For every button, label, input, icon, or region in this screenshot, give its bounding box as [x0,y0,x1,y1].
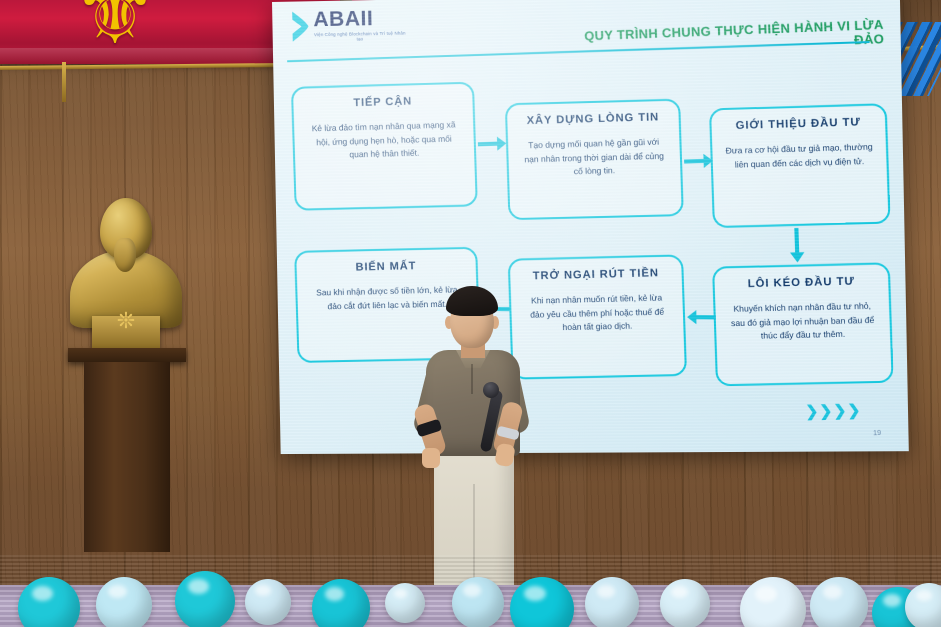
abaii-logo: ABAII Viện Công nghệ Blockchain và Trí t… [290,7,406,43]
flow-step-title: TIẾP CẬN [305,94,460,110]
balloon [740,577,806,627]
flow-step-text: Tạo dựng mối quan hệ gần gũi với nạn nhâ… [520,135,668,180]
abaii-logo-text: ABAII Viện Công nghệ Blockchain và Trí t… [313,7,406,43]
arrow-left-icon [687,310,716,324]
balloon [96,577,152,627]
pedestal-top [68,348,186,362]
balloon [510,577,574,627]
balloon [585,577,639,627]
chevron-right-icon: ❯ [847,403,861,419]
arrow-down-icon [789,228,805,263]
balloon [18,577,80,627]
chevron-right-icon: ❯ [819,404,833,420]
gold-trim-post [62,62,66,102]
flow-step-title: BIẾN MẤT [308,259,463,275]
hammer-and-sickle-icon: ⚜ [55,0,175,54]
flow-step-box-4[interactable]: LÔI KÉO ĐẦU TƯ Khuyến khích nạn nhân đầu… [712,262,894,386]
presenter-shirt-placket [471,364,473,394]
room-background: ⚜ ★ ❊ ABAII Viện Công nghệ Block [0,0,941,627]
balloon [452,577,504,627]
chevron-right-icon: ❯ [805,404,819,420]
bust-emblem-icon: ❊ [112,310,140,332]
slide-title: QUY TRÌNH CHUNG THỰC HIỆN HÀNH VI LỪA ĐẢ… [575,18,885,58]
balloon [810,577,868,627]
arrow-right-icon [684,154,713,169]
balloon-row [0,577,941,627]
flow-step-title: LÔI KÉO ĐẦU TƯ [727,275,876,291]
flow-step-text: Đưa ra cơ hội đầu tư giả mạo, thường liê… [725,140,875,172]
balloon [660,579,710,627]
flow-step-box-1[interactable]: TIẾP CẬN Kẻ lừa đảo tìm nạn nhân qua mạn… [291,82,478,211]
presenter-hair [446,286,498,316]
balloon [175,571,235,627]
pedestal-column [84,362,170,552]
balloon [312,579,370,627]
bust-beard [114,238,136,272]
balloon [385,583,425,623]
projection-screen[interactable]: ABAII Viện Công nghệ Blockchain và Trí t… [272,0,909,454]
ho-chi-minh-bust: ❊ [56,198,196,378]
flow-step-title: XÂY DỰNG LÒNG TIN [519,111,666,127]
flow-step-box-2[interactable]: XÂY DỰNG LÒNG TIN Tạo dựng mối quan hệ g… [505,98,684,220]
balloon [245,579,291,625]
screen-glare-overlay [272,0,909,454]
arrow-right-icon [478,136,507,151]
abaii-chevron-icon [290,9,311,43]
flow-step-box-3[interactable]: GIỚI THIỆU ĐẦU TƯ Đưa ra cơ hội đầu tư g… [709,103,891,228]
chevron-right-icon: ❯ [833,403,847,419]
flow-step-title: GIỚI THIỆU ĐẦU TƯ [724,116,873,132]
flow-step-text: Khuyến khích nạn nhân đầu tư nhỏ, sau đó… [728,299,878,344]
chevron-decoration-group: ❯ ❯ ❯ ❯ [805,403,861,420]
screen-scanline-overlay [272,0,909,454]
flow-step-text: Kẻ lừa đảo tìm nạn nhân qua mạng xã hội,… [306,118,462,163]
abaii-logo-subtitle: Viện Công nghệ Blockchain và Trí tuệ Nhâ… [314,31,407,44]
abaii-logo-name: ABAII [313,7,406,31]
slide-page-number: 19 [873,430,881,437]
presenter-left-hand [422,448,440,468]
